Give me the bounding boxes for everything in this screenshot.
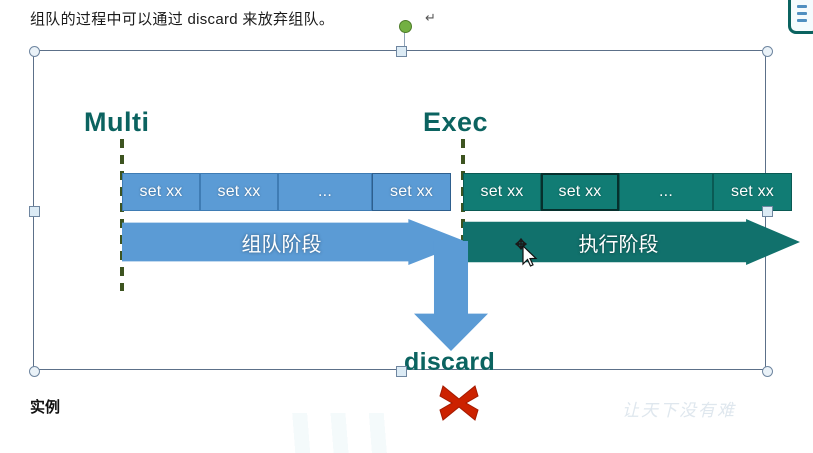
- exec-command-boxes: set xx set xx ... set xx: [463, 173, 792, 211]
- selected-image-frame[interactable]: Multi Exec set xx set xx ... set xx set …: [33, 50, 766, 370]
- selection-handle-middle-left[interactable]: [29, 206, 40, 217]
- command-box: set xx: [713, 173, 792, 211]
- corner-widget-line-1: [797, 5, 807, 8]
- command-box: set xx: [372, 173, 451, 211]
- label-multi: Multi: [84, 107, 149, 138]
- corner-widget-line-2: [797, 12, 807, 15]
- selection-handle-bottom-right[interactable]: [762, 366, 773, 377]
- bottom-partial-text: 实例: [30, 396, 60, 417]
- command-box-ellipsis: ...: [619, 173, 713, 211]
- watermark-text: 让天下没有难: [622, 396, 736, 421]
- selection-handle-top-right[interactable]: [762, 46, 773, 57]
- grouping-phase-arrow: 组队阶段: [122, 219, 467, 265]
- slide-canvas: 组队的过程中可以通过 discard 来放弃组队。 ↵ Multi Exec s…: [0, 0, 813, 406]
- corner-widget-line-3: [797, 19, 807, 22]
- command-box-ellipsis: ...: [278, 173, 372, 211]
- command-box: set xx: [200, 173, 278, 211]
- rotation-handle-icon[interactable]: [399, 20, 412, 33]
- selection-handle-top-left[interactable]: [29, 46, 40, 57]
- selection-handle-middle-right[interactable]: [762, 206, 773, 217]
- move-cursor-icon: [512, 238, 538, 268]
- discard-label: discard: [404, 348, 495, 377]
- command-box: set xx: [122, 173, 200, 211]
- dashed-line-multi: [120, 139, 124, 291]
- selection-handle-bottom-left[interactable]: [29, 366, 40, 377]
- label-exec: Exec: [423, 107, 488, 138]
- command-box: set xx: [463, 173, 541, 211]
- command-box: set xx: [541, 173, 619, 211]
- grouping-command-boxes: set xx set xx ... set xx: [122, 173, 451, 211]
- document-paragraph: 组队的过程中可以通过 discard 来放弃组队。: [30, 8, 334, 29]
- watermark-logo: [278, 413, 489, 453]
- selection-handle-top-center[interactable]: [396, 46, 407, 57]
- paragraph-mark: ↵: [425, 10, 436, 26]
- corner-widget-icon[interactable]: [788, 0, 813, 34]
- grouping-phase-label: 组队阶段: [242, 228, 322, 257]
- paragraph-text: 组队的过程中可以通过 discard 来放弃组队。: [30, 11, 334, 28]
- selection-handle-bottom-center[interactable]: [396, 366, 407, 377]
- exec-phase-label: 执行阶段: [579, 228, 659, 257]
